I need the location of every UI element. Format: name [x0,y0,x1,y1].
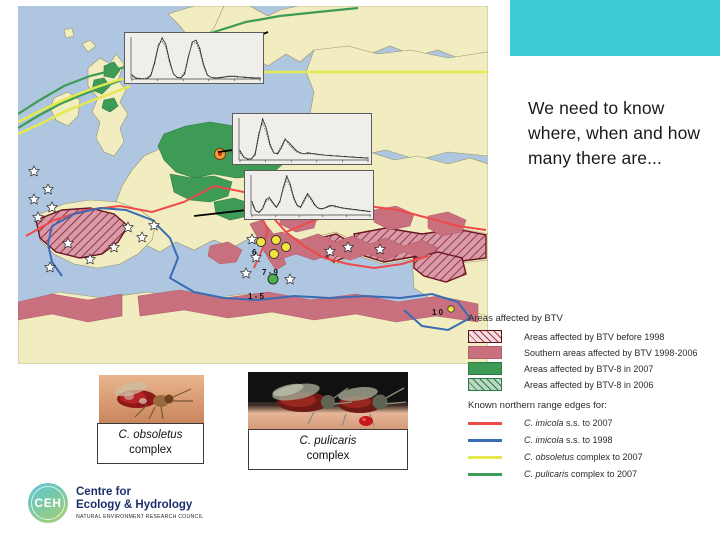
legend-label: Southern areas affected by BTV 1998-2006 [524,347,697,359]
legend-line-red [468,422,502,425]
legend-label-rest: s.s. to 1998 [564,435,613,445]
legend-swatch-hatched-green [468,378,502,391]
midge-photo-pulicaris [248,372,408,429]
legend-row-btv8-2006: Areas affected by BTV-8 in 2006 [468,378,714,391]
logo-line-2: Ecology & Hydrology [76,499,203,512]
legend-row-imicola-1998: C. imicola s.s. to 1998 [468,434,714,446]
species-name: C. imicola [524,435,564,445]
legend-label-rest: complex to 2007 [569,469,638,479]
legend-swatch-solid-green [468,362,502,375]
legend-line-blue [468,439,502,442]
legend-row-obsoletus-2007: C. obsoletus complex to 2007 [468,451,714,463]
species-name: C. pulicaris [524,469,569,479]
legend-row-pulicaris-2007: C. pulicaris complex to 2007 [468,468,714,480]
photo-block-obsoletus: C. obsoletus complex [99,375,204,464]
species-complex: complex [100,443,201,458]
legend-swatch-solid-rose [468,346,502,359]
logo-line-3: NATURAL ENVIRONMENT RESEARCH COUNCIL [76,514,203,520]
map-point-label-1-5: 1 - 5 [248,292,264,301]
legend-label: Areas affected by BTV-8 in 2007 [524,363,653,375]
legend-row-btv8-2007: Areas affected by BTV-8 in 2007 [468,362,714,375]
caption-obsoletus: C. obsoletus complex [97,423,204,464]
headline-text: We need to know where, when and how many… [528,96,718,171]
legend-line-yellow [468,456,502,459]
inset-chart-3 [244,170,374,220]
legend-row-btv-before-1998: Areas affected by BTV before 1998 [468,330,714,343]
teal-banner [510,0,720,56]
logo-line-1: Centre for [76,486,203,499]
legend-row-imicola-2007: C. imicola s.s. to 2007 [468,417,714,429]
legend-label-rest: s.s. to 2007 [564,418,613,428]
ceh-logo: CEH Centre for Ecology & Hydrology NATUR… [28,483,203,523]
inset-chart-1 [124,32,264,84]
species-name: C. imicola [524,418,564,428]
inset-chart-2 [232,113,372,165]
species-name: C. pulicaris [251,434,405,449]
legend-label: C. pulicaris complex to 2007 [524,468,637,480]
map-point-label-10: 1 0 [432,308,443,317]
map-point-label-6: 6 [252,248,256,257]
legend-row-btv-1998-2006: Southern areas affected by BTV 1998-2006 [468,346,714,359]
caption-pulicaris: C. pulicaris complex [248,429,408,470]
map-point-label-7-9: 7 - 9 [262,268,278,277]
legend-label: C. imicola s.s. to 2007 [524,417,613,429]
legend-label: Areas affected by BTV-8 in 2006 [524,379,653,391]
slide-canvas: We need to know where, when and how many… [0,0,720,542]
legend-swatch-hatched-pink [468,330,502,343]
species-name: C. obsoletus [100,428,201,443]
legend-label-rest: complex to 2007 [574,452,643,462]
ceh-logo-mark-icon: CEH [28,483,68,523]
logo-initials: CEH [34,496,61,510]
legend-label: C. obsoletus complex to 2007 [524,451,643,463]
map-legend: Areas affected by BTV Areas affected by … [468,313,714,485]
photo-block-pulicaris: C. pulicaris complex [248,372,408,470]
legend-line-green [468,473,502,476]
species-complex: complex [251,449,405,464]
legend-title: Areas affected by BTV [468,313,714,325]
legend-title-range-edges: Known northern range edges for: [468,400,714,412]
species-name: C. obsoletus [524,452,574,462]
logo-text-block: Centre for Ecology & Hydrology NATURAL E… [76,486,203,520]
legend-label: C. imicola s.s. to 1998 [524,434,613,446]
legend-label: Areas affected by BTV before 1998 [524,331,664,343]
midge-photo-obsoletus [99,375,204,423]
